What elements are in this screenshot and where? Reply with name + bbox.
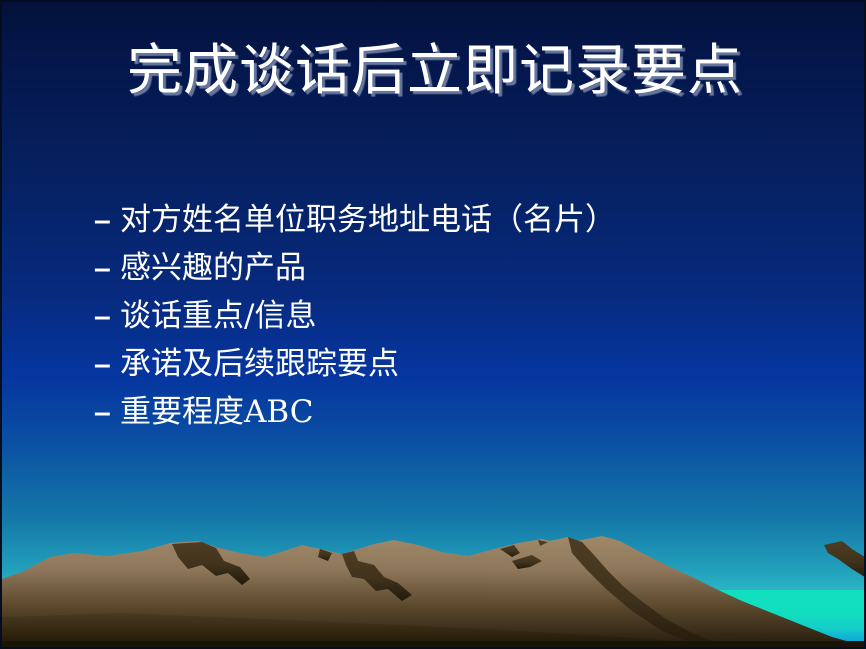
slide-canvas: 完成谈话后立即记录要点 – 对方姓名单位职务地址电话（名片） – 感兴趣的产品 … — [0, 0, 866, 649]
bullet-dash-icon: – — [94, 398, 120, 428]
mountain-range-graphic — [2, 527, 866, 647]
bullet-dash-icon: – — [94, 302, 120, 332]
list-item-label: 重要程度ABC — [120, 397, 313, 428]
list-item: – 对方姓名单位职务地址电话（名片） — [94, 205, 834, 253]
list-item: – 谈话重点/信息 — [94, 301, 834, 349]
slide-title: 完成谈话后立即记录要点 — [2, 40, 866, 102]
list-item: – 重要程度ABC — [94, 397, 834, 445]
list-item: – 感兴趣的产品 — [94, 253, 834, 301]
bullet-dash-icon: – — [94, 254, 120, 284]
list-item-label: 谈话重点/信息 — [120, 301, 316, 332]
list-item-label: 感兴趣的产品 — [120, 253, 306, 284]
list-item-label: 承诺及后续跟踪要点 — [120, 349, 399, 380]
list-item-label: 对方姓名单位职务地址电话（名片） — [120, 205, 616, 236]
bullet-list: – 对方姓名单位职务地址电话（名片） – 感兴趣的产品 – 谈话重点/信息 – … — [94, 205, 834, 445]
bullet-dash-icon: – — [94, 350, 120, 380]
bullet-dash-icon: – — [94, 206, 120, 236]
list-item: – 承诺及后续跟踪要点 — [94, 349, 834, 397]
